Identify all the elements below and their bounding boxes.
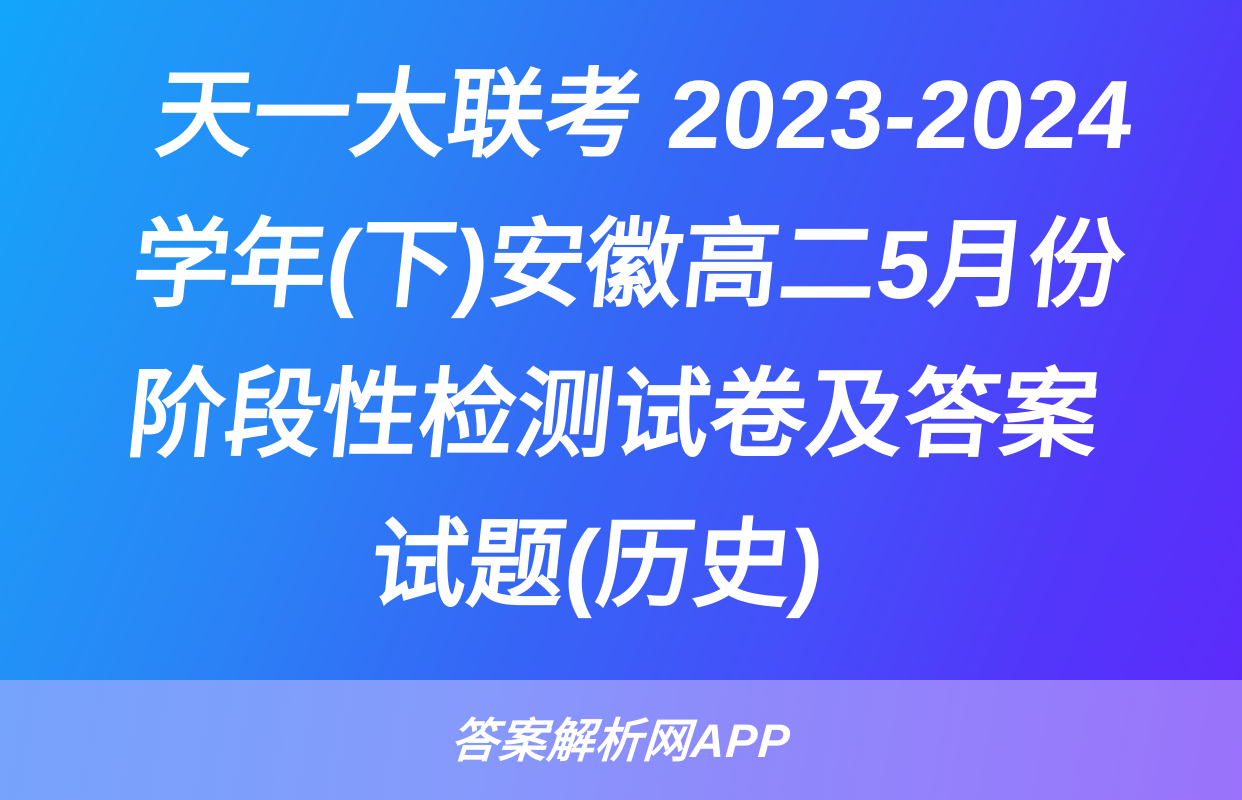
screenshot-canvas: 天一大联考 2023-2024学年(下)安徽高二5月份阶段性检测试卷及答案试题(… [0, 0, 1242, 800]
page-title: 天一大联考 2023-2024学年(下)安徽高二5月份阶段性检测试卷及答案试题(… [58, 40, 1183, 640]
footer-band: 答案解析网APP [0, 680, 1242, 800]
app-brand-watermark: 答案解析网APP [450, 717, 793, 764]
title-block: 天一大联考 2023-2024学年(下)安徽高二5月份阶段性检测试卷及答案试题(… [0, 0, 1242, 680]
